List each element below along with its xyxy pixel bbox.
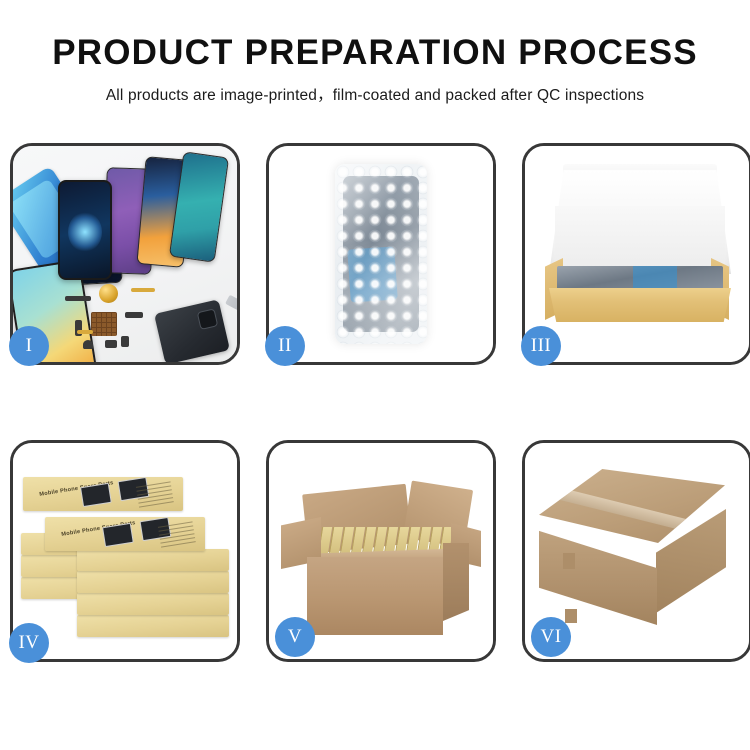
phone-back-housing — [154, 299, 230, 362]
carton-tab — [565, 609, 577, 623]
foam-insert — [555, 206, 725, 268]
step-panel-6[interactable]: VI — [522, 440, 750, 662]
step-badge-4: IV — [9, 623, 49, 663]
plastic-sheen — [335, 164, 427, 344]
spare-parts-group — [75, 282, 185, 360]
page-title: PRODUCT PREPARATION PROCESS — [0, 34, 750, 72]
step-image-4: Mobile Phone Spare Parts Mobile Phone Sp… — [13, 443, 237, 659]
box-front-wall — [549, 288, 731, 322]
product-preparation-infographic: PRODUCT PREPARATION PROCESS All products… — [0, 0, 750, 750]
printed-box-lid: Mobile Phone Spare Parts — [45, 517, 205, 551]
packing-tape — [556, 487, 704, 535]
step-panel-5[interactable]: V — [266, 440, 496, 662]
step-panel-1[interactable]: I — [10, 143, 240, 365]
step-image-3 — [525, 146, 749, 362]
step-badge-3: III — [521, 326, 561, 366]
bubble-wrap-bag — [335, 164, 427, 344]
carton-front-face — [539, 527, 657, 625]
button-part — [105, 340, 117, 348]
copper-coil-part — [99, 284, 118, 303]
header: PRODUCT PREPARATION PROCESS All products… — [0, 0, 750, 105]
steps-grid: I II III — [10, 143, 740, 662]
step-panel-2[interactable]: II — [266, 143, 496, 365]
carton-side-face — [443, 543, 469, 621]
carton-front-face — [307, 557, 443, 635]
step-badge-1: I — [9, 326, 49, 366]
cable-part — [125, 312, 143, 318]
open-carton — [283, 471, 483, 641]
flex-cable-part — [131, 288, 155, 292]
speaker-part — [83, 340, 93, 349]
step-image-2 — [269, 146, 493, 362]
carton-tab — [563, 553, 575, 569]
connector-part — [65, 296, 91, 301]
camera-part — [121, 336, 129, 347]
tempered-glass-panel — [58, 180, 112, 280]
chip-array-part — [91, 312, 117, 336]
page-subtitle: All products are image-printed，film-coat… — [0, 83, 750, 105]
step-panel-3[interactable]: III — [522, 143, 750, 365]
stacked-box — [77, 571, 229, 593]
step-badge-5: V — [275, 617, 315, 657]
stacked-box — [77, 549, 229, 571]
tweezers-tool — [225, 295, 237, 324]
printed-box-lid: Mobile Phone Spare Parts — [23, 477, 183, 511]
step-image-1 — [13, 146, 237, 362]
flex-cable-part — [77, 330, 93, 334]
step-badge-2: II — [265, 326, 305, 366]
step-badge-6: VI — [531, 617, 571, 657]
box-stack: Mobile Phone Spare Parts Mobile Phone Sp… — [21, 457, 235, 653]
sealed-carton — [539, 469, 739, 641]
stacked-box — [77, 593, 229, 615]
stacked-box — [77, 615, 229, 637]
step-panel-4[interactable]: Mobile Phone Spare Parts Mobile Phone Sp… — [10, 440, 240, 662]
